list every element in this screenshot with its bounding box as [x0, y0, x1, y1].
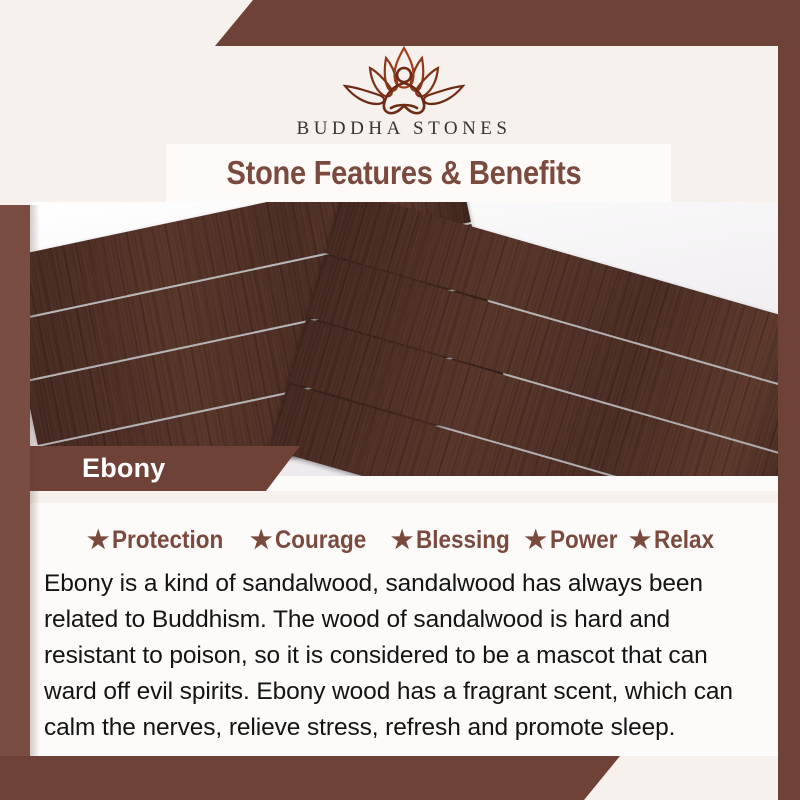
star-icon: ★ [524, 528, 546, 553]
benefit-label: Blessing [416, 526, 510, 555]
wood-slab-group-right [269, 202, 778, 476]
benefit-label: Protection [112, 526, 223, 555]
brand-header: BUDDHA STONES [30, 46, 778, 144]
frame-left-shadow [30, 205, 40, 800]
product-name-label: Ebony [82, 453, 166, 484]
description-text: Ebony is a kind of sandalwood, sandalwoo… [44, 566, 760, 746]
benefit-item-relax: ★ Relax [629, 526, 721, 555]
product-name-banner: Ebony [30, 446, 300, 491]
benefit-item-power: ★ Power [524, 526, 624, 555]
frame-top-bar [215, 0, 800, 46]
benefit-label: Courage [275, 526, 366, 555]
product-photo [30, 202, 778, 476]
title-band: Stone Features & Benefits [30, 144, 778, 202]
benefit-label: Power [550, 526, 618, 555]
banner-underline-strip [30, 491, 778, 503]
star-icon: ★ [391, 528, 413, 553]
benefit-item-protection: ★ Protection [87, 526, 236, 555]
frame-left-bar [0, 205, 30, 800]
benefit-label: Relax [654, 526, 714, 555]
brand-name: BUDDHA STONES [297, 118, 512, 140]
brand-logo: BUDDHA STONES [297, 42, 512, 140]
benefit-item-courage: ★ Courage [250, 526, 377, 555]
benefits-row: ★ Protection ★ Courage ★ Blessing ★ Powe… [30, 516, 778, 564]
lotus-meditation-logo-icon [329, 42, 479, 120]
poster-card: BUDDHA STONES Stone Features & Benefits … [0, 0, 800, 800]
page-title: Stone Features & Benefits [75, 144, 733, 202]
star-icon: ★ [250, 528, 272, 553]
frame-right-bar [778, 0, 800, 800]
star-icon: ★ [87, 528, 109, 553]
star-icon: ★ [629, 528, 651, 553]
frame-bottom-bar [0, 756, 620, 800]
benefit-item-blessing: ★ Blessing [391, 526, 521, 555]
